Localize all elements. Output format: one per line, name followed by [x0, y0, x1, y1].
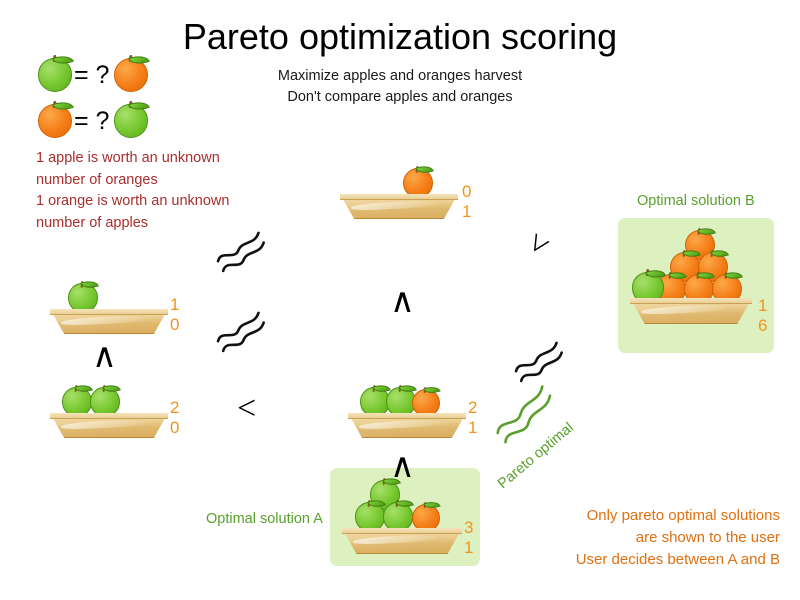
- comparison-less-than-solution-b: <: [520, 228, 559, 262]
- footer-note-block: Only pareto optimal solutions are shown …: [460, 505, 780, 571]
- optimal-solution-b-label: Optimal solution B: [637, 193, 755, 209]
- premise-text-block: 1 apple is worth an unknown number of or…: [36, 148, 296, 234]
- score-apples: 0: [462, 182, 471, 202]
- premise-line-3: 1 orange is worth an unknown: [36, 191, 296, 213]
- apple-icon: [114, 104, 148, 138]
- apple-icon: [38, 58, 72, 92]
- score-oranges: 0: [170, 315, 179, 335]
- footer-line-3: User decides between A and B: [460, 549, 780, 571]
- score-apples: 2: [170, 398, 179, 418]
- score-apples: 2: [468, 398, 477, 418]
- basket-icon: [342, 528, 462, 554]
- comparison-greater-left-column: ∧: [92, 340, 117, 374]
- equation-operator: = ?: [74, 107, 109, 136]
- footer-line-2: are shown to the user: [460, 527, 780, 549]
- score-2a-0o: 2 0: [170, 398, 179, 438]
- score-oranges: 1: [462, 202, 471, 222]
- premise-line-2: number of oranges: [36, 170, 296, 192]
- score-oranges: 6: [758, 316, 767, 336]
- pareto-optimal-annotation: Pareto optimal: [498, 420, 618, 510]
- optimal-solution-a-label: Optimal solution A: [206, 511, 323, 527]
- score-oranges: 1: [468, 418, 477, 438]
- score-1a-0o: 1 0: [170, 295, 179, 335]
- score-oranges: 0: [170, 418, 179, 438]
- orange-icon: [114, 58, 148, 92]
- page-title: Pareto optimization scoring: [0, 16, 800, 58]
- comparison-incomparable-upper-left: [210, 227, 274, 280]
- subtitle-line-2: Don't compare apples and oranges: [200, 87, 600, 108]
- basket-icon: [348, 413, 466, 438]
- footer-line-1: Only pareto optimal solutions: [460, 505, 780, 527]
- score-2a-1o: 2 1: [468, 398, 477, 438]
- equation-orange-equals-apple: = ?: [38, 104, 148, 138]
- basket-icon: [50, 309, 168, 334]
- pareto-diagram-canvas: Pareto optimization scoring Maximize app…: [0, 0, 800, 600]
- orange-icon: [38, 104, 72, 138]
- comparison-greater-solution-a: ∧: [390, 450, 415, 484]
- basket-icon: [340, 194, 458, 219]
- comparison-less-than-bottom: <: [237, 392, 256, 426]
- equation-apple-equals-orange: = ?: [38, 58, 148, 92]
- subtitle-line-1: Maximize apples and oranges harvest: [200, 66, 600, 87]
- equation-operator: = ?: [74, 61, 109, 90]
- score-solution-b: 1 6: [758, 296, 767, 336]
- basket-icon: [50, 413, 168, 438]
- premise-line-1: 1 apple is worth an unknown: [36, 148, 296, 170]
- score-0a-1o: 0 1: [462, 182, 471, 222]
- score-apples: 1: [758, 296, 767, 316]
- comparison-incomparable-lower-left: [210, 307, 274, 360]
- score-apples: 1: [170, 295, 179, 315]
- basket-icon: [630, 298, 752, 324]
- comparison-greater-center-top: ∧: [390, 285, 415, 319]
- subtitle-block: Maximize apples and oranges harvest Don'…: [200, 66, 600, 108]
